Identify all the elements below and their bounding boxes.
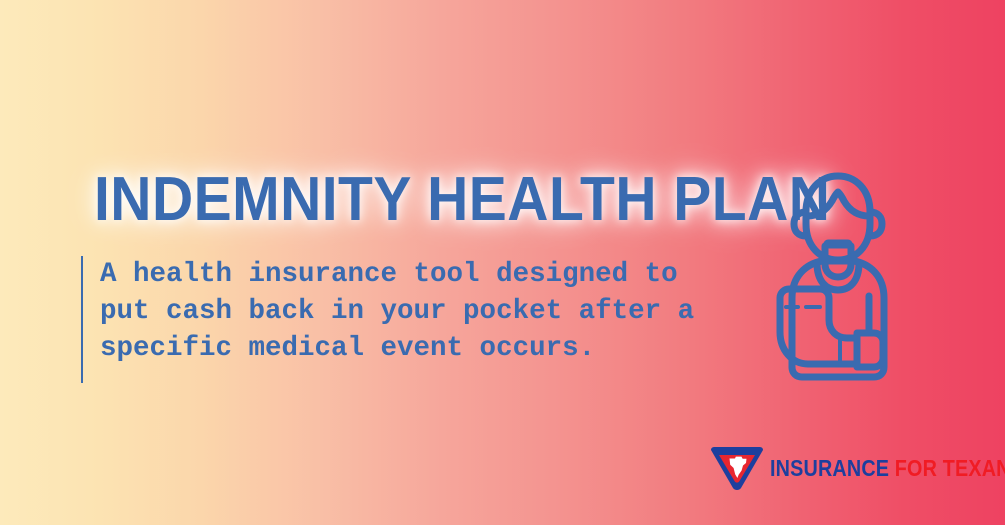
- logo-wordmark: INSURANCE FOR TEXANS®: [770, 457, 1005, 480]
- brand-logo[interactable]: INSURANCE FOR TEXANS®: [708, 444, 1005, 492]
- subcopy-block: A health insurance tool designed to put …: [81, 256, 694, 383]
- hair-fringe-shape: [807, 192, 869, 216]
- hand-shape: [857, 333, 883, 367]
- illustration-svg: [762, 168, 914, 388]
- logo-word-for-texans: FOR TEXANS: [895, 455, 1005, 481]
- logo-mark-svg: [708, 444, 766, 492]
- accent-rule-divider: [81, 256, 83, 383]
- page-title: INDEMNITY HEALTH PLAN: [94, 166, 830, 234]
- subcopy-text: A health insurance tool designed to put …: [100, 256, 694, 367]
- person-with-arm-in-cast-icon: [762, 168, 914, 388]
- texas-shield-v-icon: [708, 444, 766, 492]
- logo-word-insurance: INSURANCE: [770, 455, 889, 481]
- promo-banner: INDEMNITY HEALTH PLAN A health insurance…: [0, 0, 1005, 525]
